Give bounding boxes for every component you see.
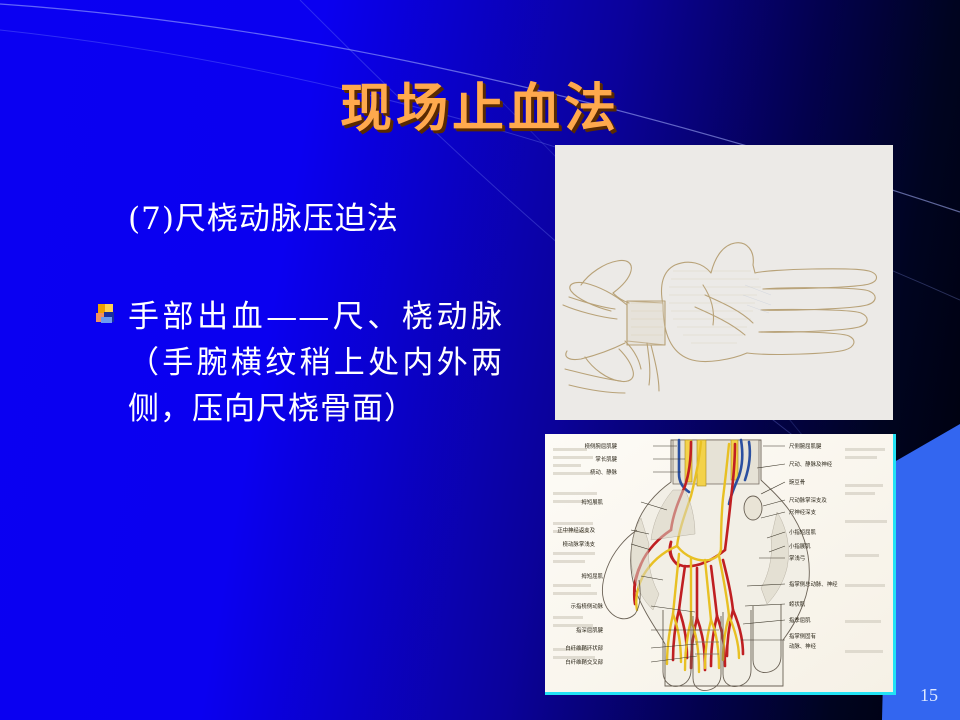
- svg-text:白纤维鞘环状部: 白纤维鞘环状部: [565, 644, 603, 652]
- svg-text:尺动脉掌深支及: 尺动脉掌深支及: [789, 496, 827, 504]
- svg-text:正中神经返支及: 正中神经返支及: [557, 526, 595, 534]
- svg-text:尺侧腕屈肌腱: 尺侧腕屈肌腱: [789, 442, 822, 450]
- svg-text:指深屈肌腱: 指深屈肌腱: [576, 626, 604, 634]
- bullet-text-2: 手部出血——尺、桡动脉（手腕横纹稍上处内外两侧，压向尺桡骨面）: [128, 294, 503, 432]
- svg-text:小指短屈肌: 小指短屈肌: [789, 528, 817, 536]
- list-item: 手部出血——尺、桡动脉（手腕横纹稍上处内外两侧，压向尺桡骨面）: [96, 294, 536, 432]
- bullet-text-1: (7)尺桡动脉压迫法: [128, 196, 399, 242]
- svg-text:蚓状肌: 蚓状肌: [789, 600, 806, 608]
- svg-text:桡侧腕屈肌腱: 桡侧腕屈肌腱: [585, 442, 618, 450]
- svg-text:掌长肌腱: 掌长肌腱: [595, 455, 617, 463]
- bullet-list: (7)尺桡动脉压迫法 手部出血——尺、桡动脉（手腕横纹稍上处内外两侧，压向尺桡骨…: [96, 196, 536, 432]
- spiral-bullet-icon: [96, 206, 122, 232]
- page-title: 现场止血法: [0, 66, 960, 141]
- squares-bullet-icon: [96, 304, 122, 330]
- svg-text:尺神经深支: 尺神经深支: [789, 508, 817, 516]
- svg-text:桡动脉掌浅支: 桡动脉掌浅支: [563, 540, 596, 548]
- svg-text:掌浅弓: 掌浅弓: [789, 554, 805, 562]
- svg-text:动脉、神经: 动脉、神经: [789, 642, 817, 650]
- svg-text:小指展肌: 小指展肌: [789, 542, 811, 550]
- svg-text:豌豆骨: 豌豆骨: [789, 478, 805, 486]
- hand-pressure-line-drawing: [555, 145, 893, 420]
- hand-artery-nerve-anatomy-diagram: 桡侧腕屈肌腱 掌长肌腱 桡动、静脉 拇短展肌 正中神经返支及 桡动脉掌浅支 拇短…: [545, 434, 896, 695]
- slide-canvas: 现场止血法 (7)尺桡动脉压迫法 手部出血——尺、桡动脉（手腕横纹稍上处内外两侧…: [0, 0, 960, 720]
- svg-text:指掌侧固有: 指掌侧固有: [789, 632, 817, 640]
- svg-text:指掌侧总动脉、神经: 指掌侧总动脉、神经: [789, 580, 838, 588]
- slide-number: 15: [920, 685, 938, 706]
- svg-text:尺动、静脉及神经: 尺动、静脉及神经: [789, 460, 833, 468]
- svg-text:桡动、静脉: 桡动、静脉: [590, 468, 618, 476]
- svg-text:示指桡侧动脉: 示指桡侧动脉: [571, 602, 604, 610]
- svg-text:指季屈肌: 指季屈肌: [789, 616, 811, 624]
- svg-text:白纤维鞘交叉部: 白纤维鞘交叉部: [565, 658, 603, 666]
- svg-text:拇短屈肌: 拇短屈肌: [581, 572, 603, 580]
- svg-text:拇短展肌: 拇短展肌: [581, 498, 603, 506]
- list-item: (7)尺桡动脉压迫法: [96, 196, 536, 242]
